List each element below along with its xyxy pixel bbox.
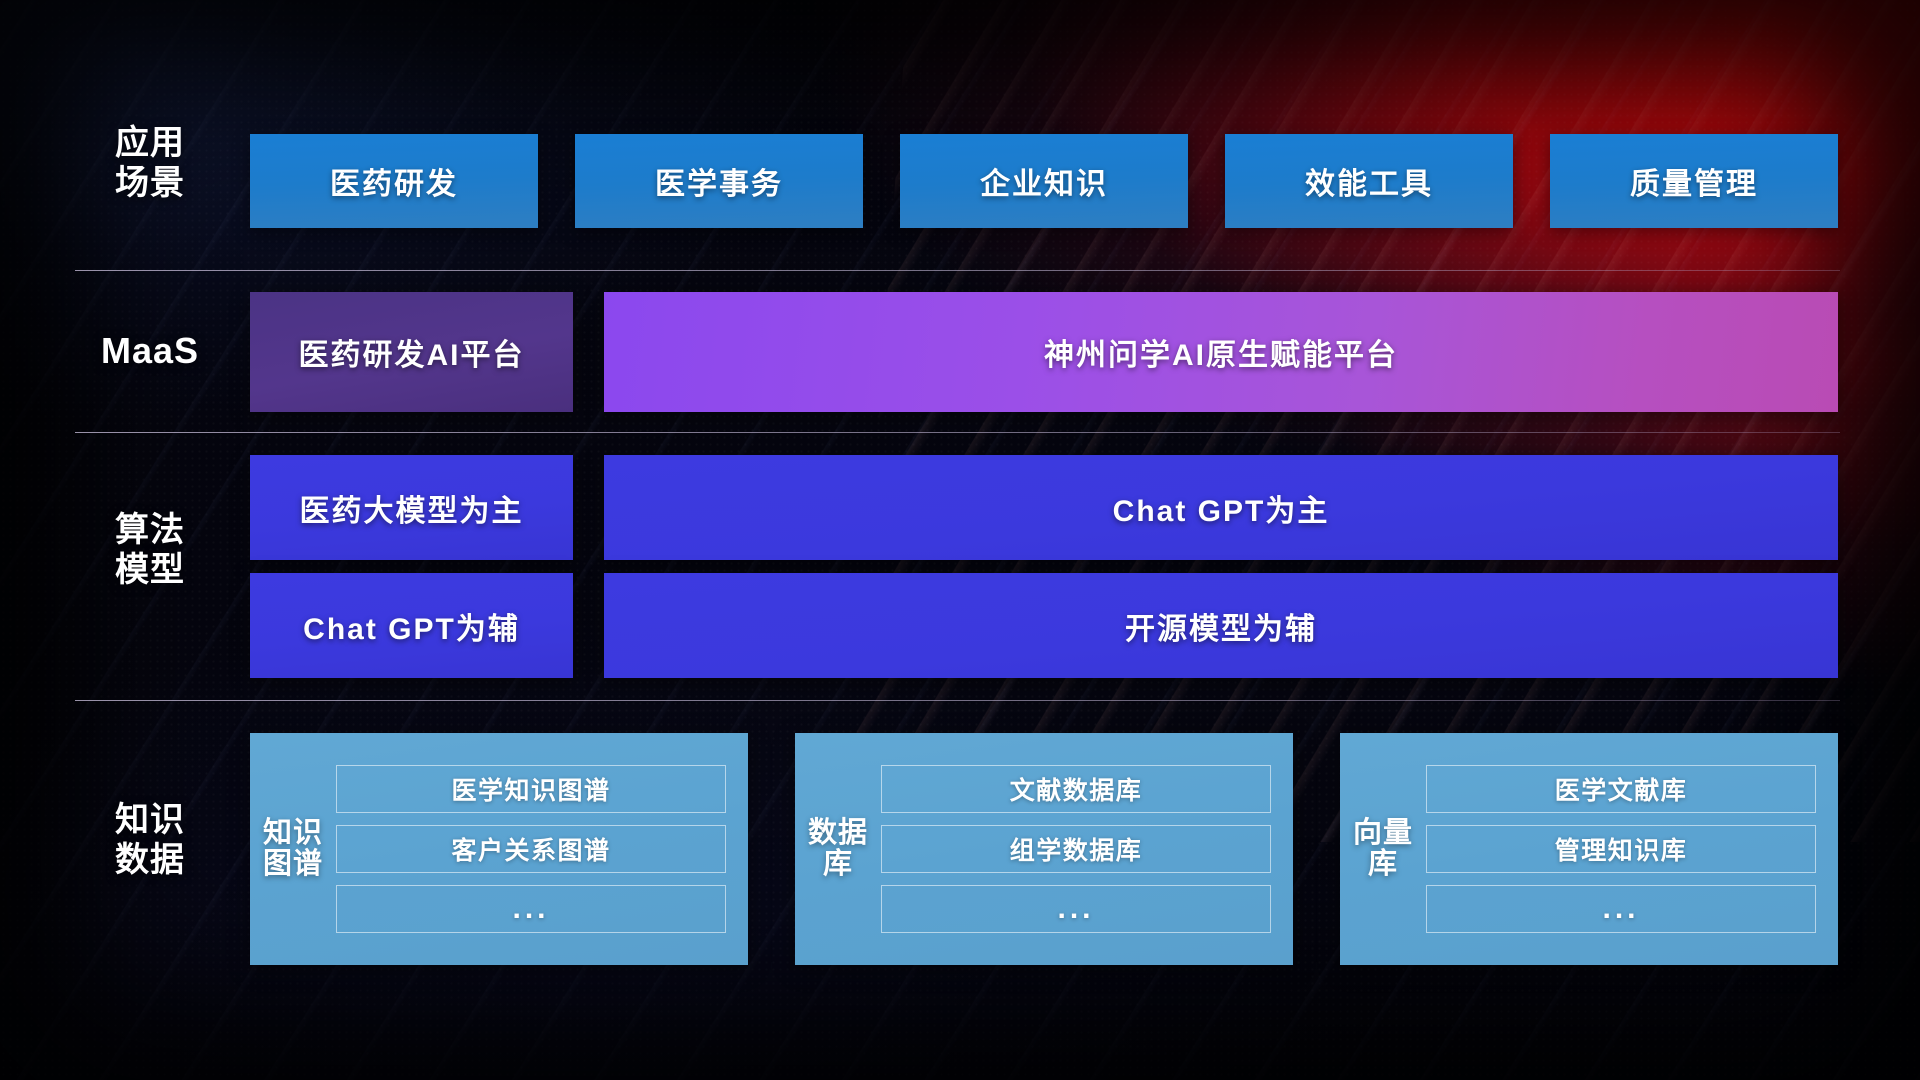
app-scenario-box-1[interactable]: 医学事务 — [575, 134, 863, 228]
app-scenario-box-3[interactable]: 效能工具 — [1225, 134, 1513, 228]
knowledge-item-1-0[interactable]: 文献数据库 — [881, 765, 1271, 813]
app-scenario-label-4: 质量管理 — [1630, 159, 1758, 203]
app-scenario-box-2[interactable]: 企业知识 — [900, 134, 1188, 228]
knowledge-item-1-2[interactable]: ... — [881, 885, 1271, 933]
maas-platform-box-left[interactable]: 医药研发AI平台 — [250, 292, 573, 412]
algorithm-model-box-0[interactable]: 医药大模型为主 — [250, 455, 573, 560]
knowledge-panel-items-0: 医学知识图谱 客户关系图谱 ... — [336, 765, 748, 933]
knowledge-panel-category-1: 数据 库 — [795, 818, 881, 881]
app-scenario-box-4[interactable]: 质量管理 — [1550, 134, 1838, 228]
divider-3 — [75, 700, 1840, 701]
algorithm-model-label-1: Chat GPT为主 — [1113, 486, 1330, 530]
knowledge-panel-category-0: 知识 图谱 — [250, 818, 336, 881]
algorithm-model-box-2[interactable]: Chat GPT为辅 — [250, 573, 573, 678]
knowledge-panel-0[interactable]: 知识 图谱 医学知识图谱 客户关系图谱 ... — [250, 733, 748, 965]
app-scenario-label-0: 医药研发 — [330, 159, 458, 203]
architecture-diagram: 应用 场景 医药研发 医学事务 企业知识 效能工具 质量管理 MaaS 医药研发… — [0, 0, 1920, 1080]
row-label-maas: MaaS — [75, 330, 225, 372]
algorithm-model-box-1[interactable]: Chat GPT为主 — [604, 455, 1838, 560]
divider-2 — [75, 432, 1840, 433]
app-scenario-label-1: 医学事务 — [655, 159, 783, 203]
algorithm-model-box-3[interactable]: 开源模型为辅 — [604, 573, 1838, 678]
app-scenario-label-2: 企业知识 — [980, 159, 1108, 203]
maas-platform-label-right: 神州问学AI原生赋能平台 — [1044, 330, 1398, 374]
knowledge-panel-category-2: 向量 库 — [1340, 818, 1426, 881]
knowledge-item-0-0[interactable]: 医学知识图谱 — [336, 765, 726, 813]
knowledge-item-2-2[interactable]: ... — [1426, 885, 1816, 933]
row-label-application-scenarios: 应用 场景 — [75, 123, 225, 203]
maas-platform-box-right[interactable]: 神州问学AI原生赋能平台 — [604, 292, 1838, 412]
knowledge-panel-items-2: 医学文献库 管理知识库 ... — [1426, 765, 1838, 933]
knowledge-item-0-1[interactable]: 客户关系图谱 — [336, 825, 726, 873]
app-scenario-label-3: 效能工具 — [1305, 159, 1433, 203]
knowledge-panel-items-1: 文献数据库 组学数据库 ... — [881, 765, 1293, 933]
divider-1 — [75, 270, 1840, 271]
algorithm-model-label-2: Chat GPT为辅 — [303, 604, 520, 648]
maas-platform-label-left: 医药研发AI平台 — [299, 330, 525, 374]
knowledge-item-0-2[interactable]: ... — [336, 885, 726, 933]
knowledge-item-2-0[interactable]: 医学文献库 — [1426, 765, 1816, 813]
algorithm-model-label-3: 开源模型为辅 — [1125, 604, 1317, 648]
knowledge-item-1-1[interactable]: 组学数据库 — [881, 825, 1271, 873]
app-scenario-box-0[interactable]: 医药研发 — [250, 134, 538, 228]
row-label-knowledge-data: 知识 数据 — [75, 800, 225, 880]
algorithm-model-label-0: 医药大模型为主 — [300, 486, 524, 530]
knowledge-item-2-1[interactable]: 管理知识库 — [1426, 825, 1816, 873]
knowledge-panel-2[interactable]: 向量 库 医学文献库 管理知识库 ... — [1340, 733, 1838, 965]
knowledge-panel-1[interactable]: 数据 库 文献数据库 组学数据库 ... — [795, 733, 1293, 965]
row-label-algorithm-models: 算法 模型 — [75, 510, 225, 590]
